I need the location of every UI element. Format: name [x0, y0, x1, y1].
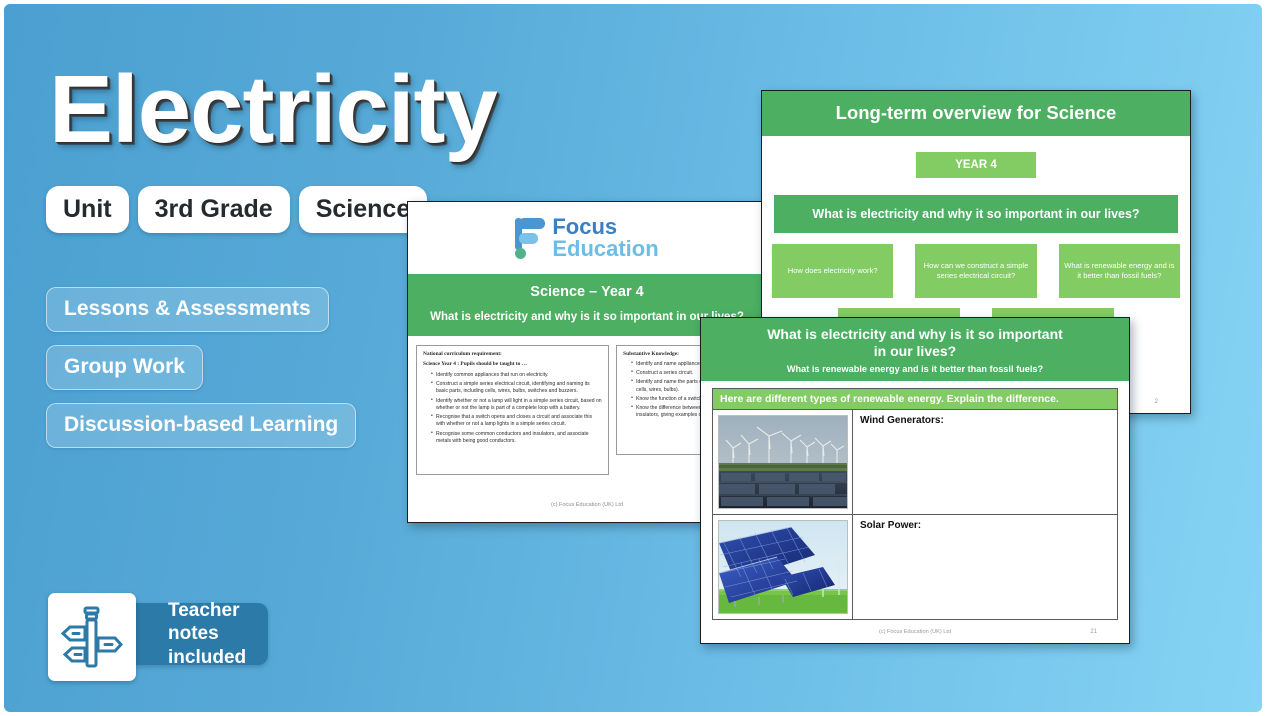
focus-education-mark-icon — [515, 218, 545, 258]
teacher-notes-callout: Teacher notes included — [48, 593, 136, 681]
long-term-title: Long-term overview for Science — [762, 91, 1190, 136]
sub-question-row-1: How does electricity work? How can we co… — [762, 244, 1190, 298]
tag-pill-unit[interactable]: Unit — [46, 186, 129, 233]
table-cell-image — [713, 515, 853, 619]
subject-year-line: Science – Year 4 — [414, 284, 760, 300]
worksheet-instruction: Here are different types of renewable en… — [713, 389, 1117, 410]
sub-question-card[interactable]: How does electricity work? — [772, 244, 893, 298]
list-item: Identify whether or not a lamp will ligh… — [431, 398, 602, 412]
table-cell-label: Solar Power: — [853, 515, 1117, 619]
worksheet-footer: (c) Focus Education (UK) Ltd 21 — [701, 629, 1129, 635]
focus-education-logo: Focus Education — [408, 202, 766, 274]
list-item: Identify common appliances that run on e… — [431, 372, 602, 379]
renewable-title: What is electricity and why is it so imp… — [711, 326, 1119, 360]
feature-badge-discussion[interactable]: Discussion-based Learning — [46, 403, 356, 448]
worksheet-table: Here are different types of renewable en… — [712, 388, 1118, 620]
nc-subheading: Science Year 4 : Pupils should be taught… — [423, 361, 602, 367]
list-item: Recognise some common conductors and ins… — [431, 431, 602, 445]
renewable-header: What is electricity and why is it so imp… — [701, 318, 1129, 381]
nc-list: Identify common appliances that run on e… — [423, 372, 602, 445]
slide-renewable-worksheet[interactable]: What is electricity and why is it so imp… — [700, 317, 1130, 644]
national-curriculum-box: National curriculum requirement: Science… — [416, 345, 609, 475]
poster-stage: Electricity Unit 3rd Grade Science Lesso… — [0, 0, 1266, 716]
focus-education-wordmark: Focus Education — [552, 216, 658, 261]
table-row: Solar Power: — [713, 515, 1117, 619]
list-item: Recognise that a switch opens and closes… — [431, 414, 602, 428]
feature-badge-lessons[interactable]: Lessons & Assessments — [46, 287, 329, 332]
copyright-text: (c) Focus Education (UK) Ltd — [879, 629, 951, 635]
list-item: Construct a simple series electrical cir… — [431, 381, 602, 395]
worksheet-rows: Wind Generators: — [713, 410, 1117, 619]
sub-question-card[interactable]: How can we construct a simple series ele… — [915, 244, 1036, 298]
teacher-notes-text: Teacher notes included — [168, 599, 246, 669]
nc-heading: National curriculum requirement: — [423, 351, 602, 357]
tag-pill-group: Unit 3rd Grade Science — [46, 186, 427, 233]
signpost-icon — [48, 593, 136, 681]
gradient-background: Electricity Unit 3rd Grade Science Lesso… — [4, 4, 1262, 712]
table-cell-label: Wind Generators: — [853, 410, 1117, 514]
feature-badge-group-work[interactable]: Group Work — [46, 345, 203, 390]
year-badge: YEAR 4 — [916, 152, 1036, 178]
page-title: Electricity — [49, 62, 497, 158]
page-number: 21 — [1090, 629, 1097, 635]
page-number: 2 — [1155, 399, 1158, 405]
sub-question-card[interactable]: What is renewable energy and is it bette… — [1059, 244, 1180, 298]
table-row: Wind Generators: — [713, 410, 1117, 515]
solar-panel-array-photo — [718, 520, 848, 614]
feature-badge-group: Lessons & Assessments Group Work Discuss… — [46, 287, 356, 448]
tag-pill-grade[interactable]: 3rd Grade — [138, 186, 290, 233]
key-question-banner: What is electricity and why it so import… — [774, 195, 1178, 233]
table-cell-image — [713, 410, 853, 514]
wind-turbines-over-solar-farm-photo — [718, 415, 848, 509]
renewable-subtitle: What is renewable energy and is it bette… — [711, 364, 1119, 374]
